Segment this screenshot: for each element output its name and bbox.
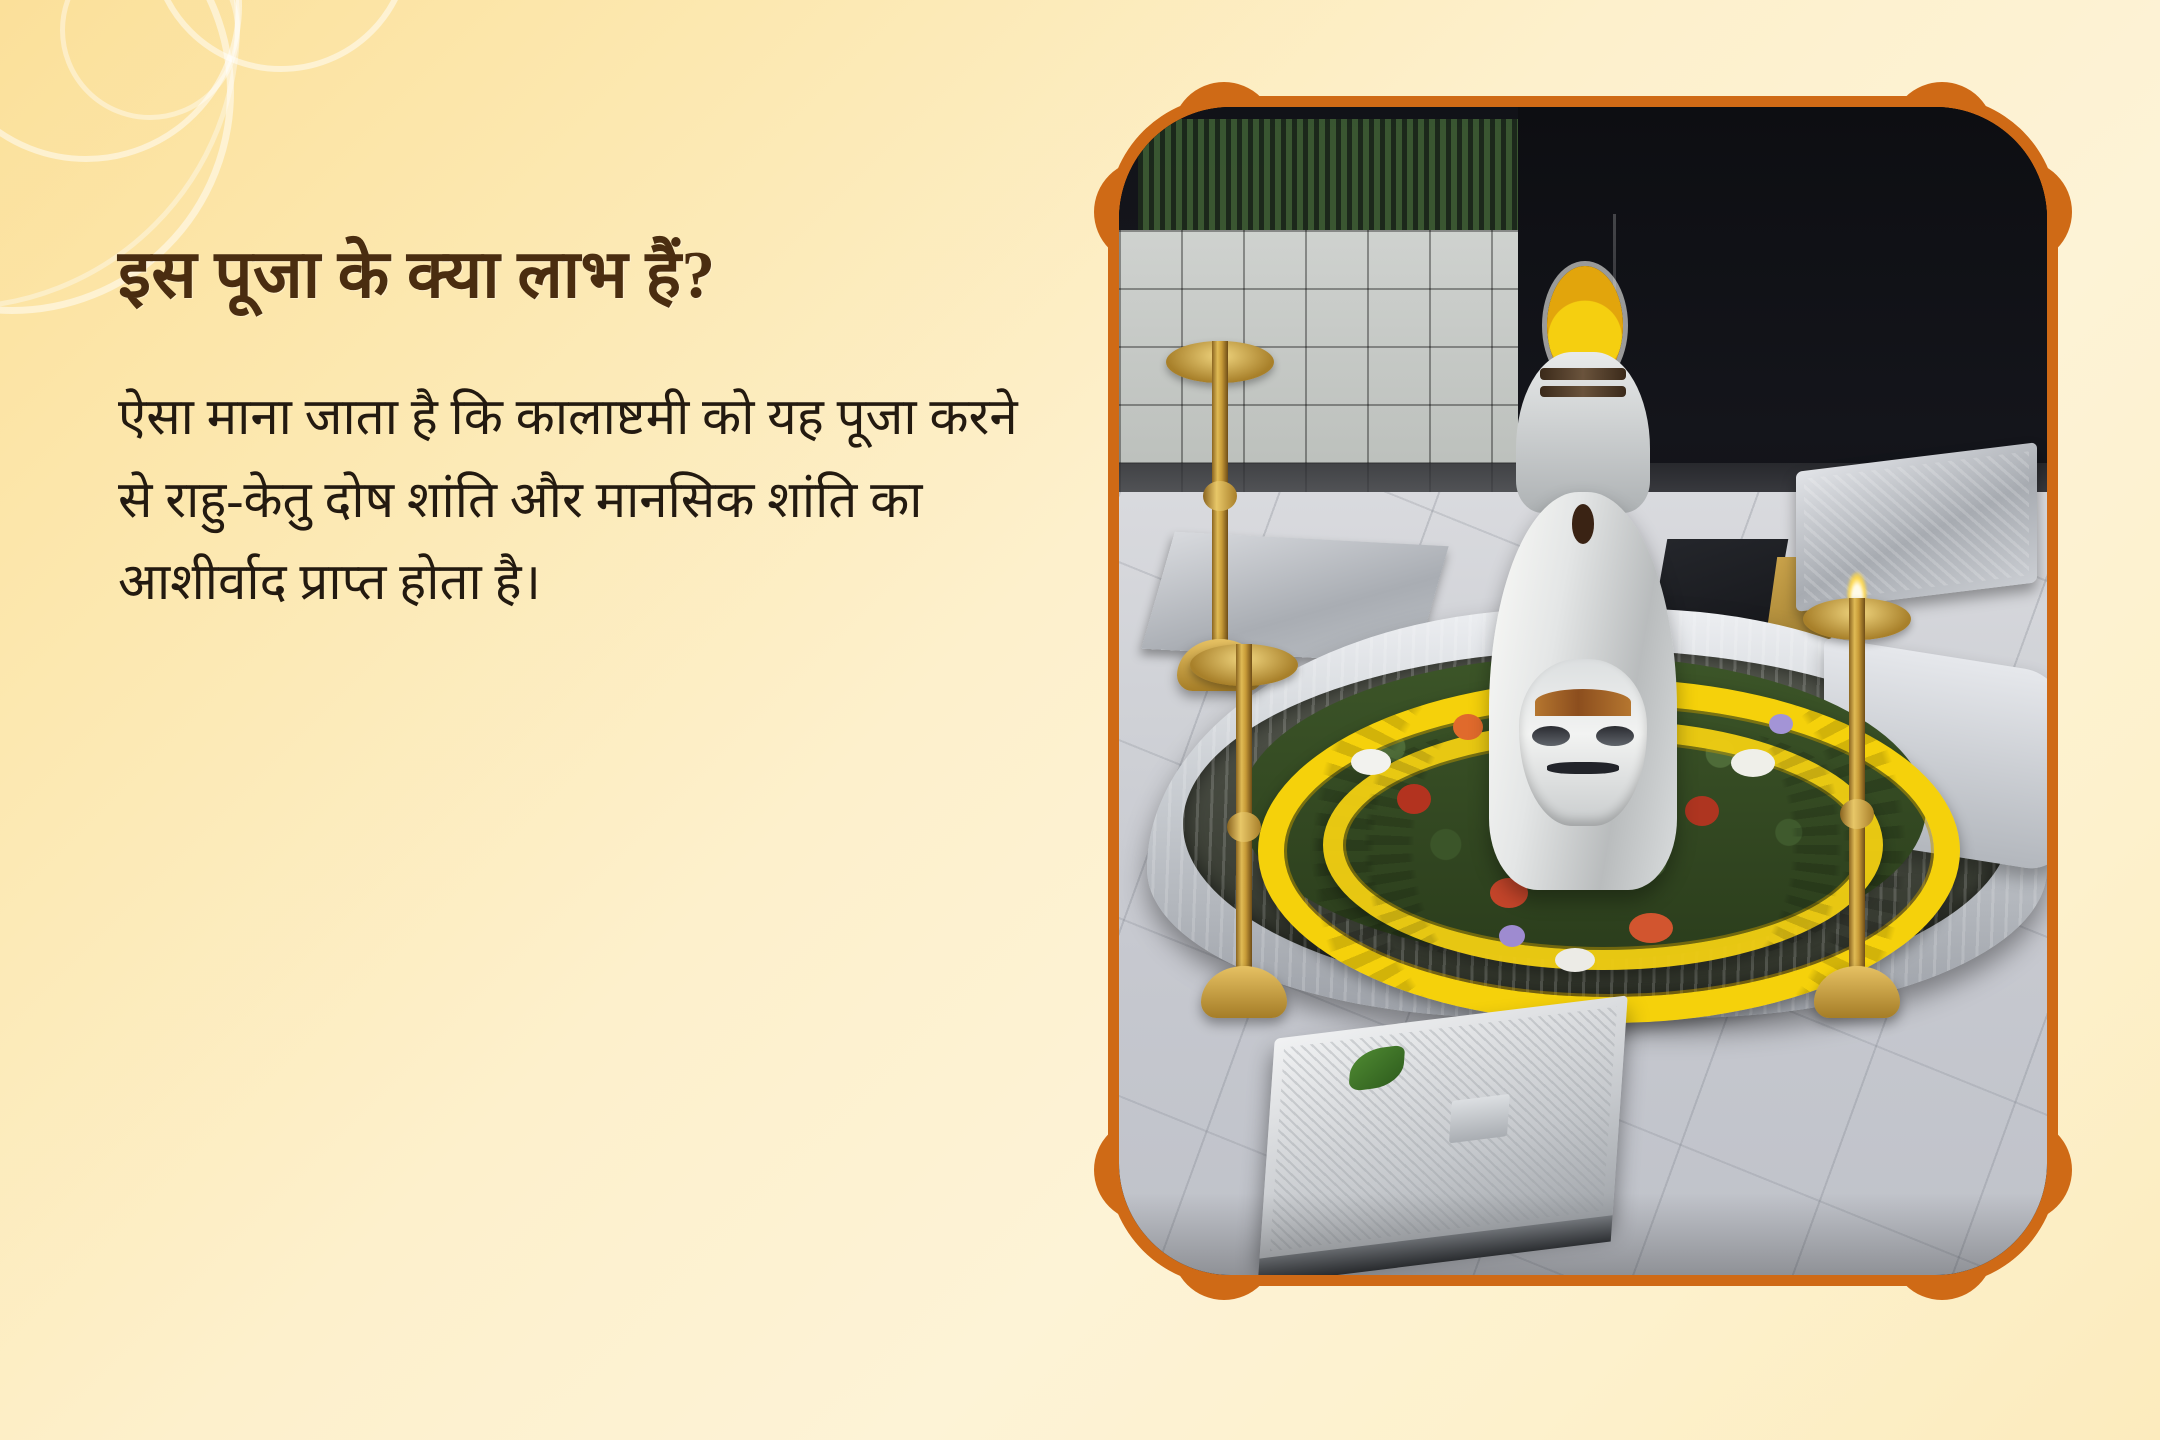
temple-photo: [1119, 107, 2047, 1275]
lamp-knob: [1840, 799, 1874, 829]
decorative-ring-icon: [150, 0, 412, 72]
mask-mouth: [1547, 762, 1618, 774]
brass-lamp-right: [1797, 598, 1917, 1018]
photo-viewport: [1119, 107, 2047, 1275]
lamp-knob: [1203, 481, 1237, 511]
crown-band: [1540, 386, 1626, 397]
flower-offering: [1499, 925, 1525, 947]
photo-card: [1108, 96, 2058, 1286]
decorative-ring-icon: [60, 0, 240, 120]
brass-lamp-upper-left: [1165, 341, 1275, 691]
silver-mask-face: [1519, 659, 1646, 826]
shiva-lingam: [1472, 352, 1695, 889]
body-paragraph: ऐसा माना जाता है कि कालाष्टमी को यह पूजा…: [118, 377, 1018, 625]
embossed-motif: [1450, 1094, 1511, 1143]
lamp-base: [1201, 966, 1287, 1018]
crown-band: [1540, 368, 1626, 379]
mask-brow: [1535, 689, 1632, 716]
lingam-body: [1489, 492, 1676, 890]
silver-crown: [1516, 352, 1650, 513]
poster-canvas: इस पूजा के क्या लाभ हैं? ऐसा माना जाता ह…: [0, 0, 2160, 1440]
decorative-ring-icon: [0, 0, 242, 162]
window-grill: [1138, 119, 1546, 236]
mask-eye-right: [1596, 726, 1634, 746]
tilak-mark: [1572, 504, 1594, 544]
page-title: इस पूजा के क्या लाभ हैं?: [118, 236, 1058, 315]
text-column: इस पूजा के क्या लाभ हैं? ऐसा माना जाता ह…: [118, 236, 1058, 625]
floor-shadow: [1119, 1193, 2047, 1275]
flower-offering: [1769, 714, 1793, 734]
lamp-base: [1814, 966, 1900, 1018]
flower-offering: [1555, 948, 1595, 972]
flower-offering: [1629, 913, 1673, 943]
mask-eye-left: [1532, 726, 1570, 746]
lamp-knob: [1227, 812, 1261, 842]
leaf-offering: [1348, 1045, 1405, 1092]
brass-lamp-lower-left: [1184, 644, 1304, 1018]
